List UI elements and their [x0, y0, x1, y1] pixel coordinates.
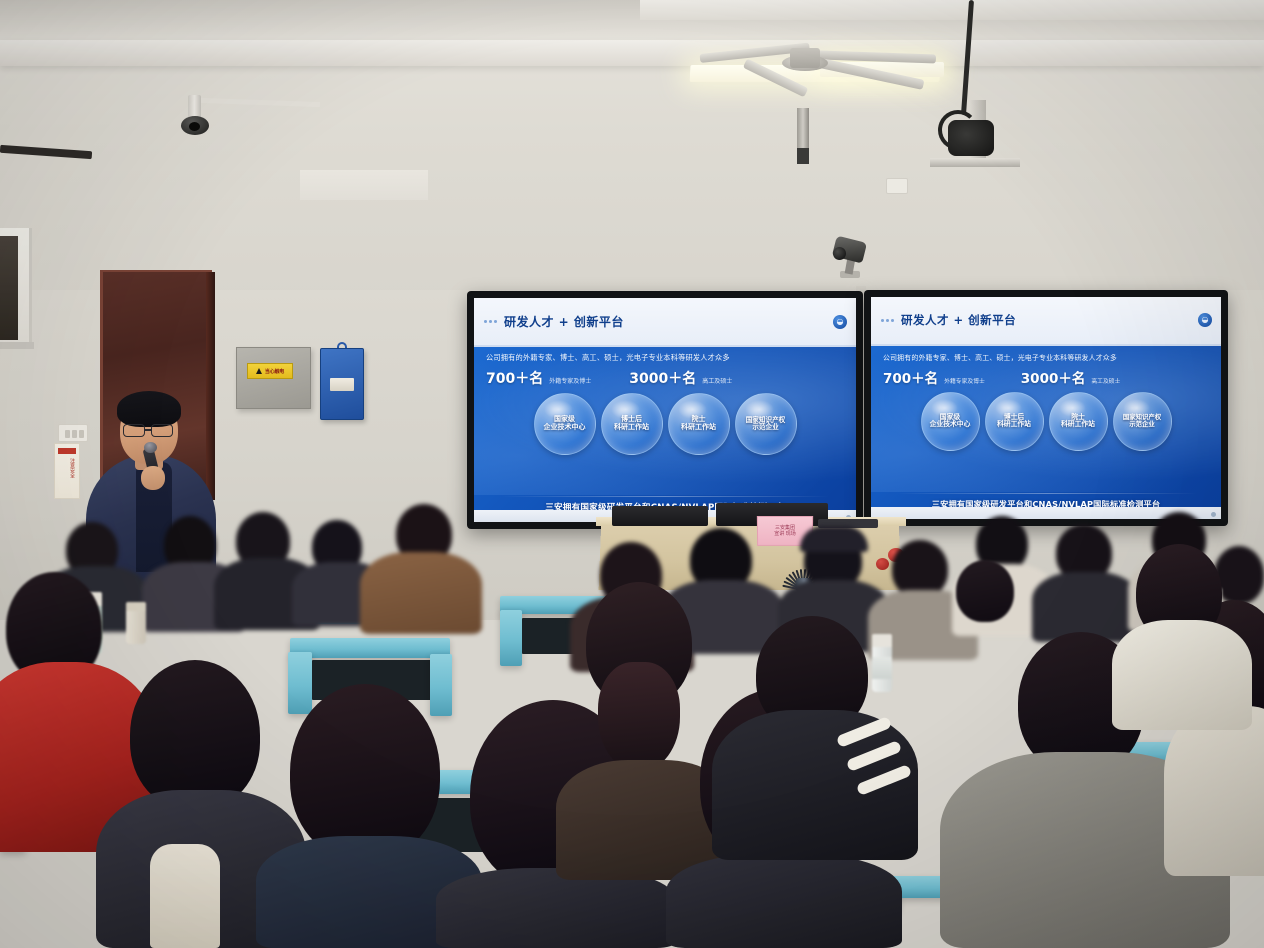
bubble-line2: 科研工作站	[614, 423, 649, 431]
bubble-line2: 科研工作站	[997, 420, 1031, 428]
bubble-item: 博士后 科研工作站	[985, 392, 1044, 451]
power-outlet	[58, 424, 88, 442]
stat-number-2: 3000＋名	[629, 368, 696, 388]
audience-ponytail	[598, 662, 680, 772]
stat-label-2: 高工及硕士	[702, 376, 732, 385]
display-indicator-icon	[1211, 512, 1216, 517]
ceiling-beam-rear	[640, 0, 1264, 20]
slide-header: 研发人才 + 创新平台 ◒	[871, 297, 1221, 346]
water-bottle	[872, 634, 892, 692]
bubble-item: 国家知识产权 示范企业	[1113, 392, 1172, 451]
audience-body	[1164, 706, 1264, 876]
poster-header-bar	[58, 448, 76, 454]
audience-head	[130, 660, 260, 810]
podium-monitor[interactable]	[612, 506, 708, 526]
stat-number-1: 700＋名	[883, 367, 938, 387]
stat-label-1: 外籍专家及博士	[944, 376, 985, 385]
slide-dots-icon	[484, 320, 497, 323]
slide-dots-icon	[881, 319, 894, 322]
projector-icon	[948, 120, 994, 156]
audience-bag	[150, 844, 220, 948]
slide-bubbles: 国家级 企业技术中心 博士后 科研工作站 院士 科研工作站	[486, 393, 844, 455]
slide-body: 公司拥有的外籍专家、博士、高工、硕士，光电子专业本科等研发人才众多 700＋名 …	[871, 346, 1221, 519]
ceiling-fan-hub	[790, 48, 820, 68]
camera-lens-icon	[189, 122, 200, 131]
bubble-line2: 科研工作站	[681, 423, 716, 431]
logo-glyph: ◒	[1202, 316, 1209, 324]
audience-head	[956, 560, 1014, 622]
ceiling-fan-rod-lower	[797, 148, 809, 164]
right-display[interactable]: 研发人才 + 创新平台 ◒ 公司拥有的外籍专家、博士、高工、硕士，光电子专业本科…	[864, 290, 1228, 526]
warning-label: 当心触电	[247, 363, 293, 379]
slide-title: 研发人才 + 创新平台	[901, 312, 1016, 328]
slide-bubbles: 国家级 企业技术中心 博士后 科研工作站 院士 科研工作站	[883, 392, 1209, 451]
ceiling-fan-rod	[797, 108, 809, 150]
projector-arm	[930, 158, 1020, 167]
desk-leg	[500, 610, 522, 666]
desk-leg	[430, 654, 452, 716]
thermos-cup	[126, 602, 146, 644]
audience-body	[360, 552, 482, 634]
podium-red-object	[876, 558, 889, 570]
door-edge	[206, 272, 215, 500]
window-glass	[0, 236, 18, 340]
bubble-line2: 企业技术中心	[930, 420, 971, 428]
name-card-line2: 宣讲 现场	[774, 531, 796, 537]
audience-body	[666, 854, 902, 948]
wall-panel	[300, 170, 428, 200]
poster-text: 注意安全	[59, 458, 75, 478]
slide-stats: 700＋名 外籍专家及博士 3000＋名 高工及硕士	[883, 367, 1209, 387]
glasses-icon	[151, 424, 173, 437]
bubble-line2: 示范企业	[1129, 420, 1155, 428]
logo-glyph: ◒	[837, 318, 844, 326]
company-logo-icon: ◒	[1198, 313, 1212, 327]
left-display[interactable]: 研发人才 + 创新平台 ◒ 公司拥有的外籍专家、博士、高工、硕士，光电子专业本科…	[467, 291, 863, 529]
glasses-icon	[123, 424, 145, 437]
bubble-item: 国家级 企业技术中心	[921, 392, 980, 451]
light-switch[interactable]	[886, 178, 908, 194]
bubble-item: 博士后 科研工作站	[601, 393, 663, 455]
presenter-hand	[141, 466, 165, 490]
stat-label-1: 外籍专家及博士	[549, 376, 591, 385]
desk-leg	[288, 652, 312, 714]
stat-number-1: 700＋名	[486, 368, 543, 388]
bubble-item: 院士 科研工作站	[668, 393, 730, 455]
warning-triangle-icon	[256, 368, 262, 374]
camera-lens-icon	[833, 247, 846, 260]
slide-left: 研发人才 + 创新平台 ◒ 公司拥有的外籍专家、博士、高工、硕士，光电子专业本科…	[474, 298, 856, 522]
blue-panel-plate	[330, 378, 354, 391]
slide-title: 研发人才 + 创新平台	[504, 313, 624, 330]
bubble-item: 院士 科研工作站	[1049, 392, 1108, 451]
presenter-hair	[117, 391, 181, 427]
slide-intro-line: 公司拥有的外籍专家、博士、高工、硕士，光电子专业本科等研发人才众多	[486, 353, 844, 363]
audience-body	[1112, 620, 1252, 730]
ceiling-beam	[0, 40, 1264, 66]
bubble-line2: 企业技术中心	[544, 423, 586, 431]
slide-intro-line: 公司拥有的外籍专家、博士、高工、硕士，光电子专业本科等研发人才众多	[883, 352, 1209, 362]
cap-icon	[800, 526, 868, 552]
left-display-panel: 研发人才 + 创新平台 ◒ 公司拥有的外籍专家、博士、高工、硕士，光电子专业本科…	[474, 298, 856, 522]
glasses-bridge-icon	[145, 429, 152, 431]
audience-head	[290, 684, 440, 860]
company-logo-icon: ◒	[833, 315, 847, 329]
bubble-item: 国家级 企业技术中心	[534, 393, 596, 455]
window-sill	[0, 342, 34, 349]
slide-right: 研发人才 + 创新平台 ◒ 公司拥有的外籍专家、博士、高工、硕士，光电子专业本科…	[871, 297, 1221, 519]
bubble-line2: 示范企业	[752, 423, 778, 431]
stat-label-2: 高工及硕士	[1091, 376, 1120, 385]
classroom-scene: 当心触电 注意安全 研发人才 + 创新平台 ◒	[0, 0, 1264, 948]
desk	[290, 638, 450, 658]
warning-label-text: 当心触电	[265, 368, 284, 375]
slide-header: 研发人才 + 创新平台 ◒	[474, 298, 856, 347]
slide-body: 公司拥有的外籍专家、博士、高工、硕士，光电子专业本科等研发人才众多 700＋名 …	[474, 347, 856, 522]
bubble-line2: 科研工作站	[1061, 420, 1095, 428]
microphone-head-icon	[144, 442, 157, 453]
bubble-item: 国家知识产权 示范企业	[735, 393, 797, 455]
stat-number-2: 3000＋名	[1021, 367, 1086, 387]
right-display-panel: 研发人才 + 创新平台 ◒ 公司拥有的外籍专家、博士、高工、硕士，光电子专业本科…	[871, 297, 1221, 519]
audience-body	[436, 868, 676, 948]
slide-stats: 700＋名 外籍专家及博士 3000＋名 高工及硕士	[486, 368, 844, 388]
